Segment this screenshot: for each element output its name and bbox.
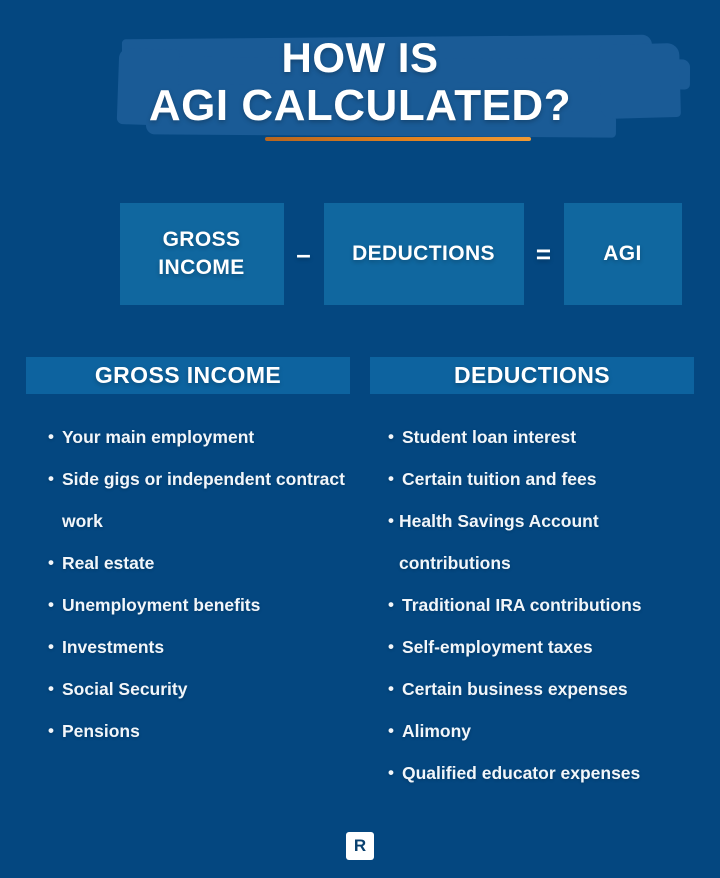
page-title: HOW IS AGI CALCULATED?: [0, 34, 720, 130]
list-item-label: Certain tuition and fees: [402, 458, 694, 500]
bullet-icon: •: [388, 416, 402, 458]
list-item: • Health Savings Account contributions: [370, 500, 694, 584]
list-item: • Social Security: [26, 668, 350, 710]
formula-box-deductions: DEDUCTIONS: [324, 203, 524, 305]
list-item-label: Unemployment benefits: [62, 584, 350, 626]
bullet-icon: •: [388, 500, 399, 542]
list-item: • Student loan interest: [370, 416, 694, 458]
gross-income-list: • Your main employment • Side gigs or in…: [26, 394, 350, 752]
list-item: • Side gigs or independent contract work: [26, 458, 350, 542]
list-item-label: Self-employment taxes: [402, 626, 694, 668]
list-item-label: Pensions: [62, 710, 350, 752]
deductions-list: • Student loan interest • Certain tuitio…: [370, 394, 694, 794]
list-item: • Real estate: [26, 542, 350, 584]
list-item-label: Certain business expenses: [402, 668, 694, 710]
bullet-icon: •: [388, 584, 402, 626]
formula-box-gross-income: GROSS INCOME: [120, 203, 284, 305]
formula-minus-operator: –: [284, 203, 324, 305]
list-item-label: Traditional IRA contributions: [402, 584, 694, 626]
bullet-icon: •: [388, 668, 402, 710]
bullet-icon: •: [48, 626, 62, 668]
list-item: • Qualified educator expenses: [370, 752, 694, 794]
page-title-line2: AGI CALCULATED?: [0, 82, 720, 130]
bullet-icon: •: [48, 710, 62, 752]
bullet-icon: •: [48, 416, 62, 458]
list-item: • Unemployment benefits: [26, 584, 350, 626]
ramsey-logo-icon: R: [346, 832, 374, 860]
list-item-label: Social Security: [62, 668, 350, 710]
title-underline-accent: [265, 137, 531, 141]
list-item-label: Investments: [62, 626, 350, 668]
column-header-gross-income: GROSS INCOME: [26, 357, 350, 394]
title-block: HOW IS AGI CALCULATED?: [0, 0, 720, 165]
bullet-icon: •: [48, 584, 62, 626]
column-header-deductions: DEDUCTIONS: [370, 357, 694, 394]
bullet-icon: •: [48, 542, 62, 584]
list-item: • Your main employment: [26, 416, 350, 458]
list-item: • Investments: [26, 626, 350, 668]
column-gross-income: GROSS INCOME • Your main employment • Si…: [26, 357, 350, 794]
footer: R: [0, 832, 720, 860]
bullet-icon: •: [388, 752, 402, 794]
list-item-label: Qualified educator expenses: [402, 752, 694, 794]
bullet-icon: •: [48, 458, 62, 500]
bullet-icon: •: [388, 626, 402, 668]
column-deductions: DEDUCTIONS • Student loan interest • Cer…: [370, 357, 694, 794]
bullet-icon: •: [388, 458, 402, 500]
list-item-label: Student loan interest: [402, 416, 694, 458]
list-item: • Certain business expenses: [370, 668, 694, 710]
list-item-label: Health Savings Account contributions: [399, 500, 694, 584]
list-item-label: Real estate: [62, 542, 350, 584]
list-item: • Alimony: [370, 710, 694, 752]
page-title-line1: HOW IS: [0, 34, 720, 82]
formula-row: GROSS INCOME – DEDUCTIONS = AGI: [0, 203, 720, 305]
bullet-icon: •: [388, 710, 402, 752]
list-item-label: Side gigs or independent contract work: [62, 458, 350, 542]
list-item: • Pensions: [26, 710, 350, 752]
columns-section: GROSS INCOME • Your main employment • Si…: [0, 357, 720, 794]
list-item: • Certain tuition and fees: [370, 458, 694, 500]
list-item-label: Alimony: [402, 710, 694, 752]
list-item: • Self-employment taxes: [370, 626, 694, 668]
formula-equals-operator: =: [524, 203, 564, 305]
formula-box-agi: AGI: [564, 203, 682, 305]
list-item-label: Your main employment: [62, 416, 350, 458]
list-item: • Traditional IRA contributions: [370, 584, 694, 626]
bullet-icon: •: [48, 668, 62, 710]
